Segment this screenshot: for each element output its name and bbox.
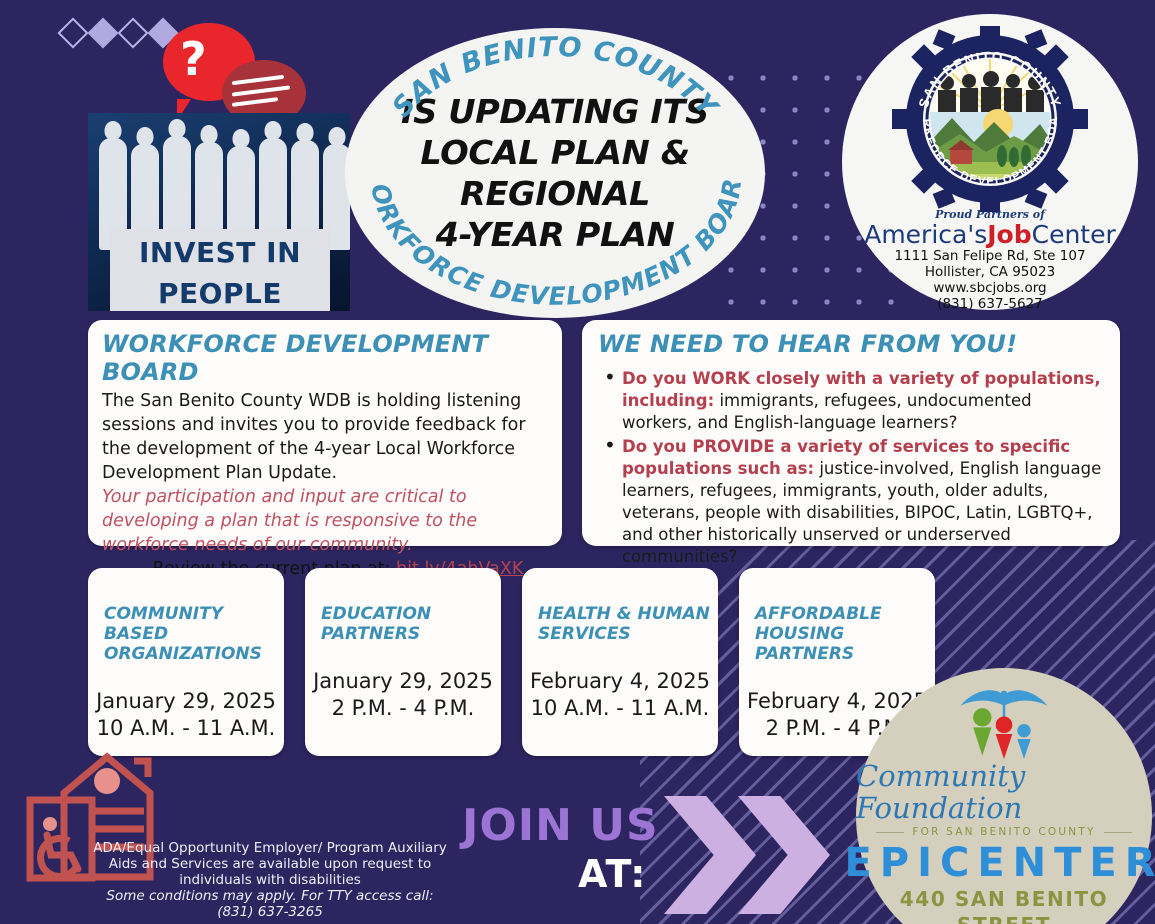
session-date: January 29, 2025 xyxy=(313,668,493,695)
ajc-part-job: Job xyxy=(987,220,1031,249)
photo-caption-line1: INVEST IN xyxy=(110,229,330,270)
session-card: EDUCATION PARTNERS January 29, 2025 2 P.… xyxy=(305,568,501,756)
list-item: Do you WORK closely with a variety of po… xyxy=(598,368,1102,434)
invest-in-people-photo: INVEST IN PEOPLE xyxy=(88,113,350,311)
flyer-canvas: ? INVEST IN PEOPLE IS UPDATING ITS LOCAL… xyxy=(0,0,1155,924)
workforce-development-board-card: WORKFORCE DEVELOPMENT BOARD The San Beni… xyxy=(88,320,562,546)
session-date: January 29, 2025 xyxy=(96,688,276,715)
ada-line-3: individuals with disabilities xyxy=(70,872,470,888)
question-mark-icon: ? xyxy=(180,36,207,82)
we-need-to-hear-from-you-card: WE NEED TO HEAR FROM YOU! Do you WORK cl… xyxy=(582,320,1120,546)
session-title: HEALTH & HUMAN SERVICES xyxy=(530,604,710,644)
diamond-outline-icon xyxy=(117,17,148,48)
session-title: AFFORDABLE HOUSING PARTNERS xyxy=(747,604,927,664)
logo-phone[interactable]: (831) 637-5627 xyxy=(894,296,1085,312)
headline-line-3: 4-YEAR PLAN xyxy=(436,214,675,255)
photo-caption-line2: PEOPLE xyxy=(110,270,330,311)
ada-line-1: ADA/Equal Opportunity Employer/ Program … xyxy=(70,840,470,856)
headline-line-1: IS UPDATING ITS xyxy=(401,91,709,132)
session-date: February 4, 2025 xyxy=(530,668,710,695)
diamond-outline-icon xyxy=(57,17,88,48)
logo-address-line1: 1111 San Felipe Rd, Ste 107 xyxy=(894,248,1085,264)
ada-line-4: Some conditions may apply. For TTY acces… xyxy=(70,888,470,904)
left-card-emphasis: Your participation and input are critica… xyxy=(102,485,546,557)
diamond-solid-icon xyxy=(87,17,118,48)
session-title: EDUCATION PARTNERS xyxy=(313,604,493,644)
session-time: 10 A.M. - 11 A.M. xyxy=(96,715,276,742)
logo-address-line2: Hollister, CA 95023 xyxy=(894,264,1085,280)
session-datetime: January 29, 2025 10 A.M. - 11 A.M. xyxy=(96,688,276,742)
invest-in-people-banner: INVEST IN PEOPLE xyxy=(110,229,330,311)
right-card-heading: WE NEED TO HEAR FROM YOU! xyxy=(598,330,1102,358)
session-datetime: January 29, 2025 2 P.M. - 4 P.M. xyxy=(313,668,493,722)
community-foundation-subtitle-row: FOR SAN BENITO COUNTY xyxy=(876,826,1131,838)
epicenter-wordmark: EPICENTER xyxy=(844,840,1155,886)
wdb-seal-icon: SAN BENITO COUNTY WORKFORCE DEVELOPMENT … xyxy=(890,26,1090,212)
at-label: AT: xyxy=(578,852,647,896)
diamond-row-decoration xyxy=(62,22,174,44)
community-foundation-subtitle: FOR SAN BENITO COUNTY xyxy=(912,826,1095,838)
headline-oval: IS UPDATING ITS LOCAL PLAN & REGIONAL 4-… xyxy=(345,28,765,318)
logo-contact-block: 1111 San Felipe Rd, Ste 107 Hollister, C… xyxy=(894,248,1085,312)
left-card-paragraph: The San Benito County WDB is holding lis… xyxy=(102,389,546,485)
speech-bubble-lines-icon xyxy=(232,78,294,111)
session-title: COMMUNITY BASED ORGANIZATIONS xyxy=(96,604,276,664)
list-item: Do you PROVIDE a variety of services to … xyxy=(598,436,1102,568)
wdb-logo: SAN BENITO COUNTY WORKFORCE DEVELOPMENT … xyxy=(842,14,1138,310)
left-card-heading: WORKFORCE DEVELOPMENT BOARD xyxy=(102,330,546,386)
session-time: 10 A.M. - 11 A.M. xyxy=(530,695,710,722)
session-datetime: February 4, 2025 10 A.M. - 11 A.M. xyxy=(530,668,710,722)
ada-disclaimer: ADA/Equal Opportunity Employer/ Program … xyxy=(70,840,470,920)
venue-address-line1: 440 SAN BENITO STREET xyxy=(856,886,1152,924)
ajc-part-americas: America's xyxy=(864,220,987,249)
session-card: HEALTH & HUMAN SERVICES February 4, 2025… xyxy=(522,568,718,756)
ajc-part-center: Center xyxy=(1032,220,1116,249)
question-list: Do you WORK closely with a variety of po… xyxy=(598,368,1102,568)
session-card: COMMUNITY BASED ORGANIZATIONS January 29… xyxy=(88,568,284,756)
community-foundation-icon xyxy=(944,684,1064,764)
headline-line-2: LOCAL PLAN & REGIONAL xyxy=(341,132,769,214)
ada-line-5: (831) 637-3265 xyxy=(70,904,470,920)
logo-website[interactable]: www.sbcjobs.org xyxy=(894,280,1085,296)
ada-line-2: Aids and Services are available upon req… xyxy=(70,856,470,872)
join-us-label: JOIN US xyxy=(462,800,659,851)
community-foundation-name: Community Foundation xyxy=(856,760,1152,824)
venue-address: 440 SAN BENITO STREET HOLLISTER, CA 9502… xyxy=(856,886,1152,924)
session-time: 2 P.M. - 4 P.M. xyxy=(313,695,493,722)
americas-job-center-wordmark: America'sJobCenter xyxy=(864,221,1116,248)
